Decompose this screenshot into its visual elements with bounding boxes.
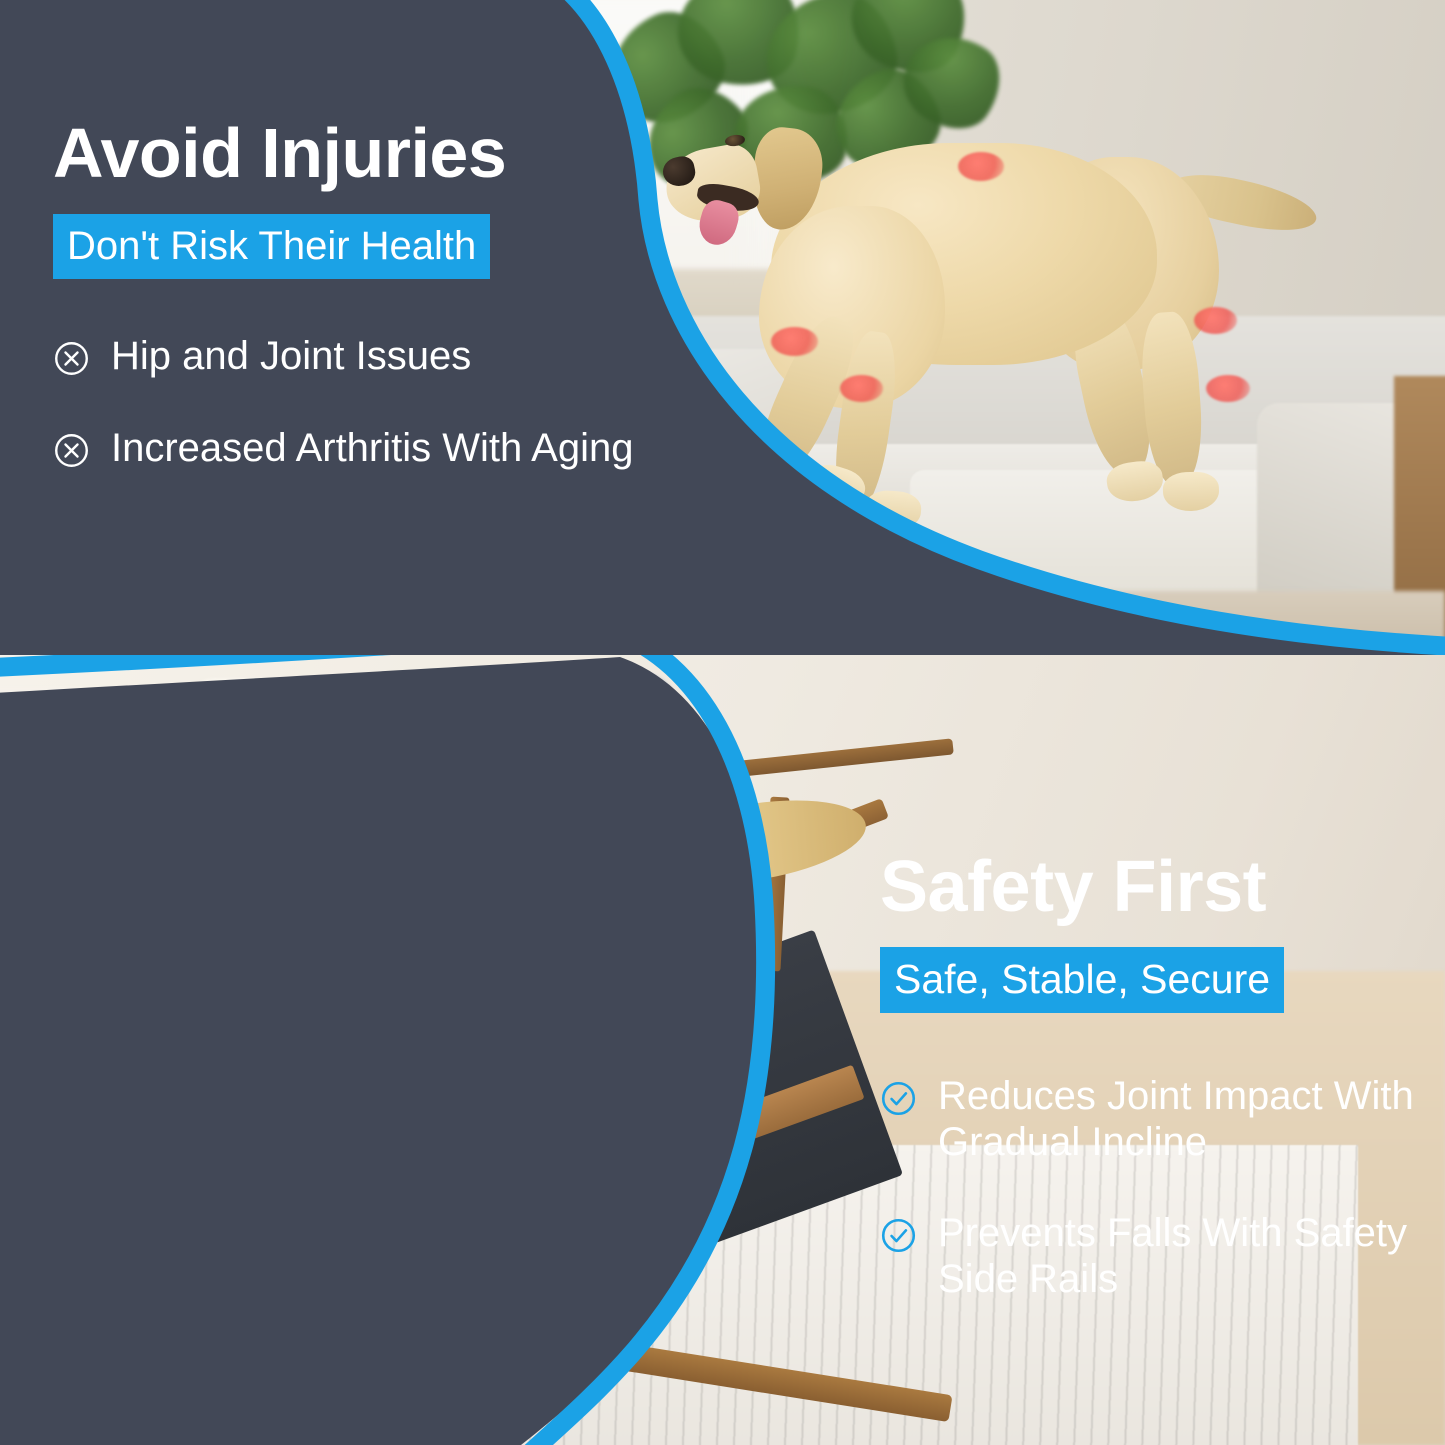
subline-dont-risk-their-health: Don't Risk Their Health [53, 214, 490, 279]
circle-check-icon [880, 1080, 917, 1117]
bullet-label: Prevents Falls With Safety Side Rails [938, 1210, 1425, 1303]
retriever-tail [636, 785, 872, 899]
retriever-tongue [187, 915, 227, 953]
retriever-hind-leg-near [474, 1060, 548, 1250]
labrador-dog [672, 60, 1293, 544]
retriever-hind-leg-far [553, 1036, 639, 1239]
retriever-nose [175, 883, 215, 910]
list-item: Increased Arthritis With Aging [53, 425, 693, 471]
golden-retriever-dog [58, 734, 867, 1319]
copy-block-bottom: Safety First Safe, Stable, Secure Reduce… [880, 851, 1425, 1347]
bullet-label: Increased Arthritis With Aging [111, 425, 633, 471]
circle-x-icon [53, 432, 90, 469]
copy-block-top: Avoid Injuries Don't Risk Their Health H… [53, 118, 693, 472]
joint-marker-stifle [1194, 307, 1237, 334]
retriever-front-paw-near [325, 1243, 406, 1284]
list-item: Reduces Joint Impact With Gradual Inclin… [880, 1073, 1425, 1166]
joint-marker-front-elbow [771, 327, 818, 356]
circle-x-icon [53, 340, 90, 377]
retriever-front-leg-near [322, 1072, 401, 1261]
joint-marker-front-wrist [840, 375, 883, 402]
list-item: Prevents Falls With Safety Side Rails [880, 1210, 1425, 1303]
bullet-list-bottom: Reduces Joint Impact With Gradual Inclin… [880, 1073, 1425, 1303]
circle-check-icon [880, 1217, 917, 1254]
list-item: Hip and Joint Issues [53, 333, 693, 379]
subline-safe-stable-secure: Safe, Stable, Secure [880, 947, 1284, 1013]
retriever-eye-left [167, 830, 190, 842]
retriever-front-paw-far [244, 1237, 325, 1278]
bullet-list-top: Hip and Joint Issues Increased Arthritis… [53, 333, 693, 472]
headline-avoid-injuries: Avoid Injuries [53, 118, 693, 188]
product-infographic: Avoid Injuries Don't Risk Their Health H… [0, 0, 1445, 1445]
dog-hind-paw-near [1162, 471, 1219, 512]
retriever-eye-right [256, 830, 279, 842]
dog-front-paw-near [863, 489, 921, 532]
joint-marker-hock [1206, 375, 1249, 402]
panel-avoid-injuries: Avoid Injuries Don't Risk Their Health H… [0, 0, 1445, 672]
bullet-label: Reduces Joint Impact With Gradual Inclin… [938, 1073, 1425, 1166]
retriever-front-leg-far [249, 1060, 329, 1261]
bullet-label: Hip and Joint Issues [111, 333, 471, 379]
ramp-adjustment-knob [448, 1366, 506, 1413]
panel-safety-first: Safety First Safe, Stable, Secure Reduce… [0, 655, 1445, 1445]
headline-safety-first: Safety First [880, 851, 1425, 923]
